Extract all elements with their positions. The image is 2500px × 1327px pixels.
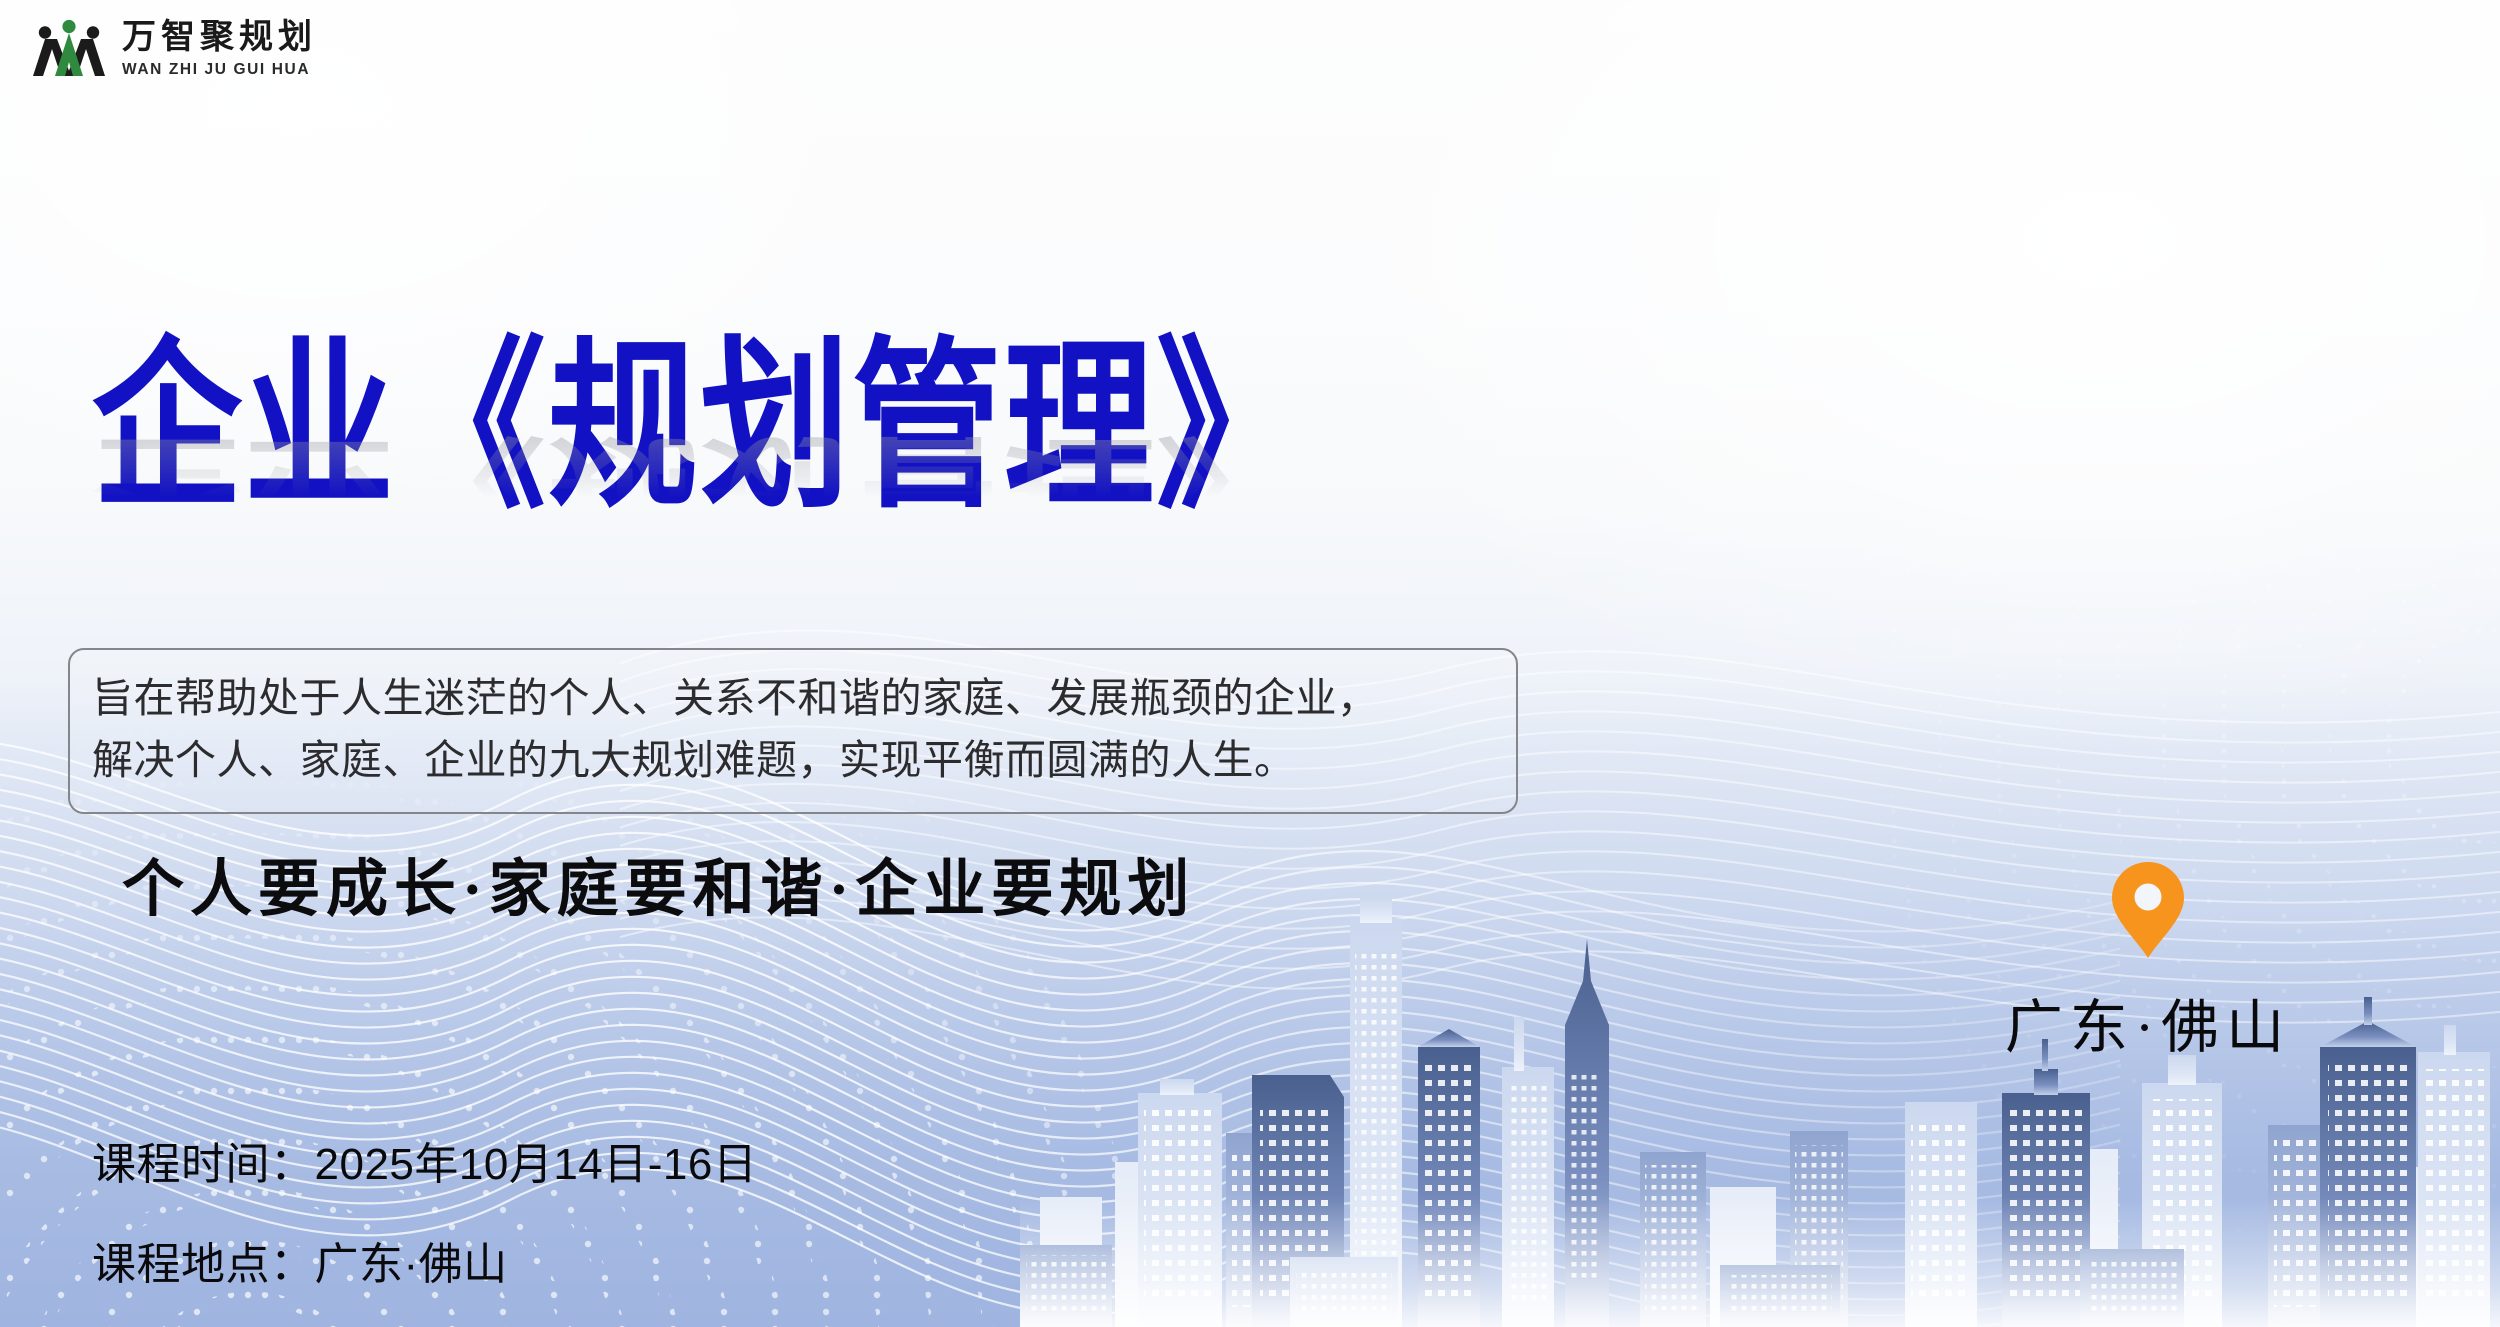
brand-name-cn: 万智聚规划	[122, 21, 317, 55]
course-location-row: 课程地点：广东·佛山	[92, 1228, 757, 1292]
location-badge: 广东·佛山	[1958, 862, 2338, 1064]
description-line-1: 旨在帮助处于人生迷茫的个人、关系不和谐的家庭、发展瓶颈的企业，	[92, 667, 1494, 729]
poster-root: 万智聚规划 WAN ZHI JU GUI HUA 企业《规划管理》 企业《规划管…	[0, 0, 2500, 1327]
course-location-label: 课程地点：	[92, 1240, 315, 1289]
map-pin-icon	[2111, 862, 2185, 958]
course-location-value: 广东·佛山	[315, 1240, 508, 1289]
brand-logo[interactable]: 万智聚规划 WAN ZHI JU GUI HUA	[30, 18, 317, 80]
hero-tagline: 个人要成长·家庭要和谐·企业要规划	[122, 838, 1195, 928]
hero-title-block: 企业《规划管理》 企业《规划管理》	[92, 336, 1572, 674]
course-time-label: 课程时间：	[92, 1140, 315, 1189]
description-box: 旨在帮助处于人生迷茫的个人、关系不和谐的家庭、发展瓶颈的企业， 解决个人、家庭、…	[68, 648, 1518, 814]
course-time-value: 2025年10月14日-16日	[315, 1140, 758, 1189]
hero-title: 企业《规划管理》	[92, 336, 1572, 519]
location-badge-label: 广东·佛山	[2005, 980, 2291, 1064]
course-time-row: 课程时间：2025年10月14日-16日	[92, 1128, 757, 1192]
brand-logo-text: 万智聚规划 WAN ZHI JU GUI HUA	[122, 21, 317, 78]
brand-name-en: WAN ZHI JU GUI HUA	[122, 62, 317, 78]
description-line-2: 解决个人、家庭、企业的九大规划难题，实现平衡而圆满的人生。	[92, 729, 1494, 791]
three-people-logo-icon	[30, 18, 108, 80]
course-info-block: 课程时间：2025年10月14日-16日 课程地点：广东·佛山	[92, 1128, 757, 1292]
